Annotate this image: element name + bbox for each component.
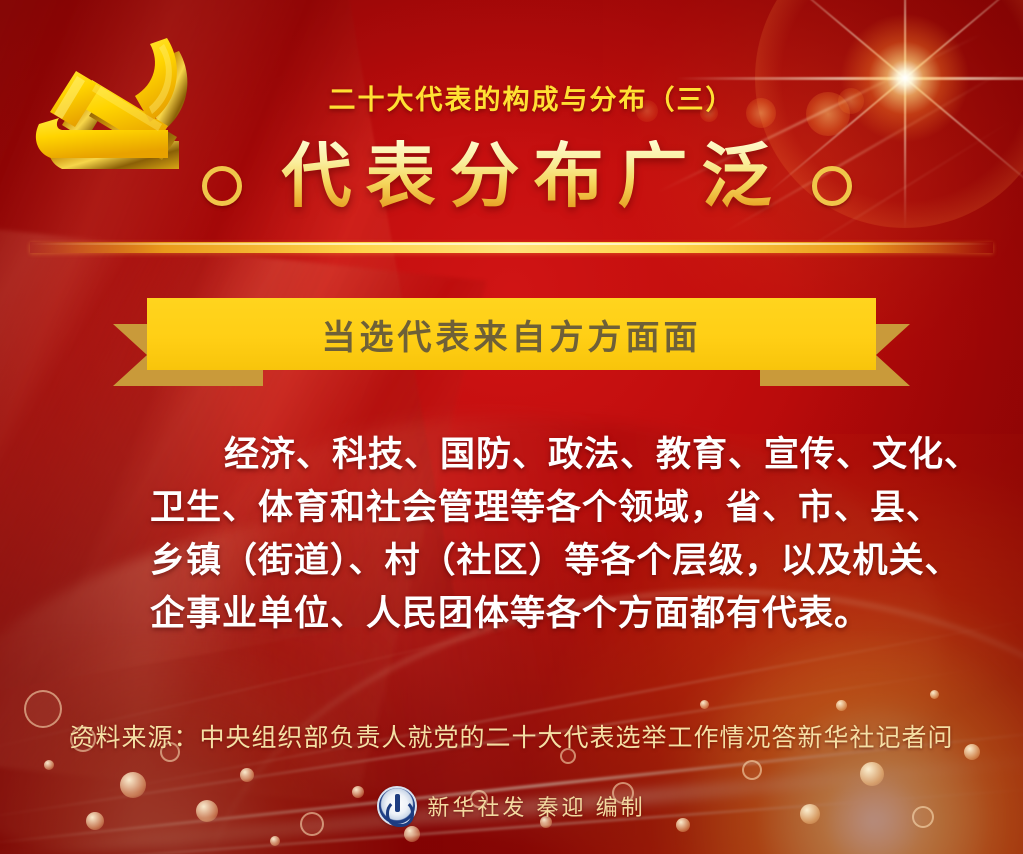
body-line: 乡镇（街道）、村（社区）等各个层级，以及机关、 bbox=[150, 534, 880, 587]
main-title-row: 代表分布广泛 bbox=[0, 140, 1023, 214]
banner-plate: 当选代表来自方方面面 bbox=[147, 298, 876, 370]
xinhua-logo-icon bbox=[377, 786, 417, 826]
body-paragraph: 经济、科技、国防、政法、教育、宣传、文化、 卫生、体育和社会管理等各个领域，省、… bbox=[150, 428, 880, 640]
credit-row: 新华社发 秦迎 编制 bbox=[0, 786, 1023, 826]
banner-label: 当选代表来自方方面面 bbox=[147, 298, 876, 370]
page-title: 代表分布广泛 bbox=[268, 140, 786, 214]
credit-label: 新华社发 秦迎 编制 bbox=[427, 790, 645, 822]
page-subtitle: 二十大代表的构成与分布（三） bbox=[0, 78, 1023, 117]
infographic-poster: 二十大代表的构成与分布（三） 代表分布广泛 当选代表来自方方面面 经济、科技、国… bbox=[0, 0, 1023, 854]
section-banner: 当选代表来自方方面面 bbox=[113, 298, 910, 388]
decorative-circle-left-icon bbox=[202, 166, 242, 206]
source-note: 资料来源：中央组织部负责人就党的二十大代表选举工作情况答新华社记者问 bbox=[0, 718, 1023, 754]
gold-divider bbox=[30, 242, 993, 253]
decorative-circle-right-icon bbox=[812, 166, 852, 206]
body-line: 经济、科技、国防、政法、教育、宣传、文化、 bbox=[150, 428, 880, 481]
body-line: 卫生、体育和社会管理等各个领域，省、市、县、 bbox=[150, 481, 880, 534]
body-line: 企事业单位、人民团体等各个方面都有代表。 bbox=[150, 587, 880, 640]
